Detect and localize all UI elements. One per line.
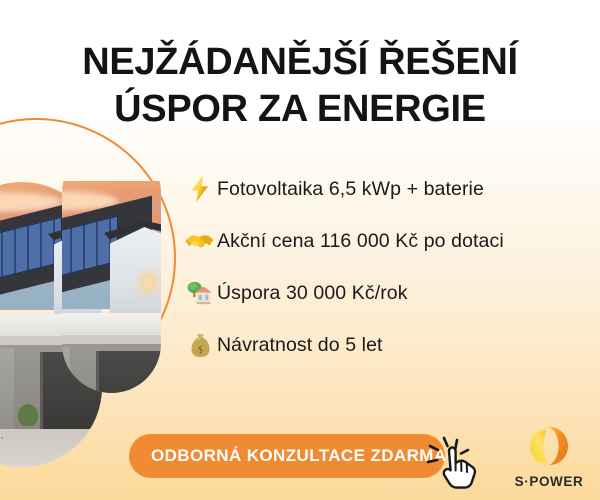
svg-text:$: $ <box>198 345 203 356</box>
house-photo-capsule-right <box>62 143 161 393</box>
list-item-label: Akční cena 116 000 Kč po dotaci <box>217 230 504 253</box>
spower-ring-logo-icon <box>508 424 590 473</box>
cta-button[interactable]: ODBORNÁ KONZULTACE ZDARMA <box>129 434 445 478</box>
list-item-label: Úspora 30 000 Kč/rok <box>217 282 408 305</box>
page-title: NEJŽÁDANĚJŠÍ ŘEŠENÍ ÚSPOR ZA ENERGIE <box>0 39 600 133</box>
headline-line-1: NEJŽÁDANĚJŠÍ ŘEŠENÍ <box>0 39 600 86</box>
list-item: Akční cena 116 000 Kč po dotaci <box>183 215 583 267</box>
headline-line-2: ÚSPOR ZA ENERGIE <box>0 86 600 133</box>
logo-wordmark: S·POWER <box>508 474 590 489</box>
money-bag-icon: $ <box>183 333 217 358</box>
list-item: Fotovoltaika 6,5 kWp + baterie <box>183 163 583 215</box>
spower-logo[interactable]: S·POWER <box>508 424 590 486</box>
list-item-label: Návratnost do 5 let <box>217 334 383 357</box>
list-item: $ Návratnost do 5 let <box>183 319 583 371</box>
list-item: Úspora 30 000 Kč/rok <box>183 267 583 319</box>
house-with-garden-icon <box>183 281 217 306</box>
lightning-bolt-icon <box>183 176 217 202</box>
feature-list: Fotovoltaika 6,5 kWp + baterie Akční cen… <box>183 163 583 371</box>
list-item-label: Fotovoltaika 6,5 kWp + baterie <box>217 178 484 201</box>
solar-energy-promo-banner: NEJŽÁDANĚJŠÍ ŘEŠENÍ ÚSPOR ZA ENERGIE <box>0 0 600 500</box>
handshake-icon <box>183 231 217 251</box>
house-with-solar-panels-photo <box>62 181 161 393</box>
